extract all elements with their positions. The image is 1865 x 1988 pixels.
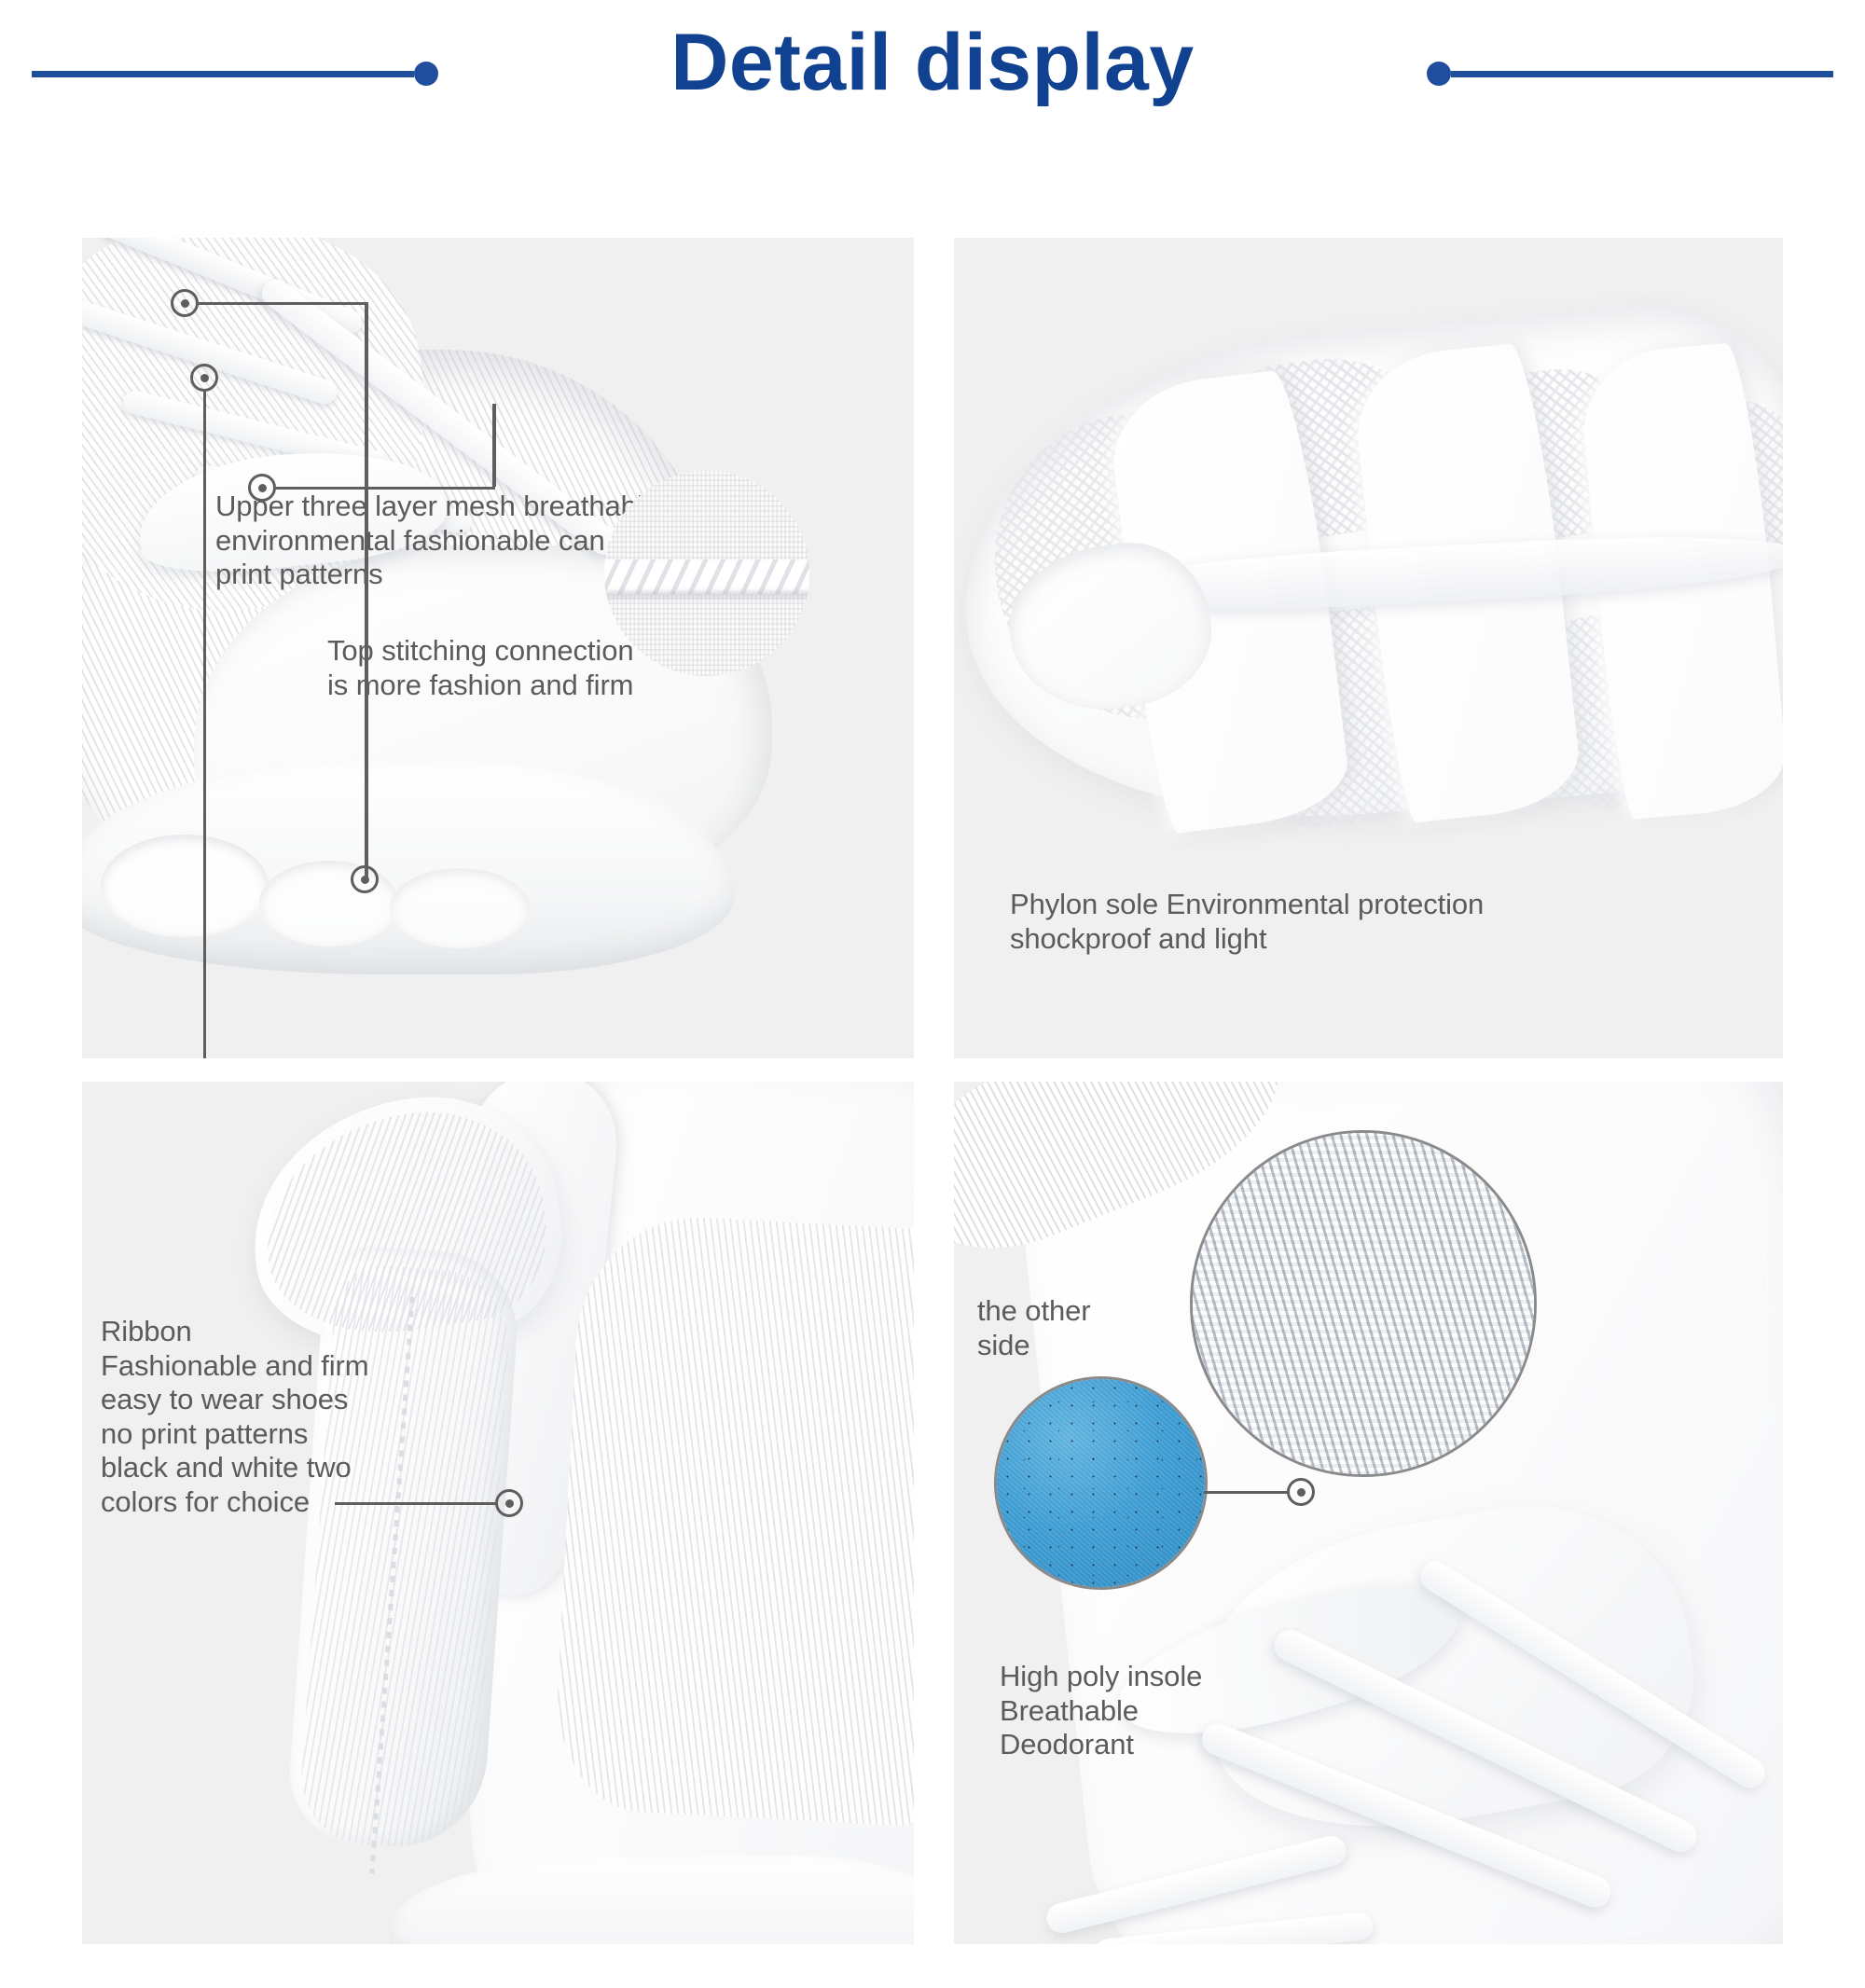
page-header: Detail display (0, 0, 1865, 196)
leader-line-stitching-v (492, 404, 496, 487)
marker-heel-ribbon-icon[interactable] (495, 1489, 523, 1517)
marker-upper-mesh-icon[interactable] (171, 289, 199, 317)
marker-ribbon-lower-icon[interactable] (351, 865, 379, 893)
leader-line-insole-h (1204, 1491, 1290, 1495)
blue-insole-zoom-circle (994, 1376, 1208, 1590)
stitching-zoom-circle (604, 471, 809, 676)
leader-line-ribbon-v (203, 392, 207, 1058)
caption-other-side: the other side (977, 1294, 1201, 1362)
knit-mesh-zoom-circle (1190, 1130, 1537, 1477)
leader-line-heel-ribbon-h (335, 1502, 498, 1506)
blue-insole-texture (997, 1379, 1205, 1587)
panel-insole: the other side High poly insole Breathab… (954, 1082, 1783, 1944)
panel-ribbon-heel: Ribbon Fashionable and firm easy to wear… (82, 1082, 914, 1944)
caption-ribbon-detail: Ribbon Fashionable and firm easy to wear… (101, 1315, 502, 1519)
caption-phylon-sole: Phylon sole Environmental protection sho… (1010, 888, 1775, 956)
leader-line-upper-mesh-v (365, 302, 368, 880)
marker-ribbon-icon[interactable] (190, 364, 218, 392)
page-title: Detail display (0, 21, 1865, 104)
leader-line-upper-mesh-h (199, 302, 368, 306)
marker-insole-icon[interactable] (1287, 1478, 1315, 1506)
knit-mesh-texture (1193, 1133, 1534, 1474)
leader-line-stitching-h (276, 487, 495, 490)
marker-stitching-icon[interactable] (248, 474, 276, 502)
detail-display-page: Detail display (0, 0, 1865, 1988)
caption-high-poly-insole: High poly insole Breathable Deodorant (1000, 1660, 1373, 1762)
panel-upper-mesh: Upper three layer mesh breathable enviro… (82, 238, 914, 1058)
panel-phylon-sole: Phylon sole Environmental protection sho… (954, 238, 1783, 1058)
stitching-texture (604, 471, 809, 676)
